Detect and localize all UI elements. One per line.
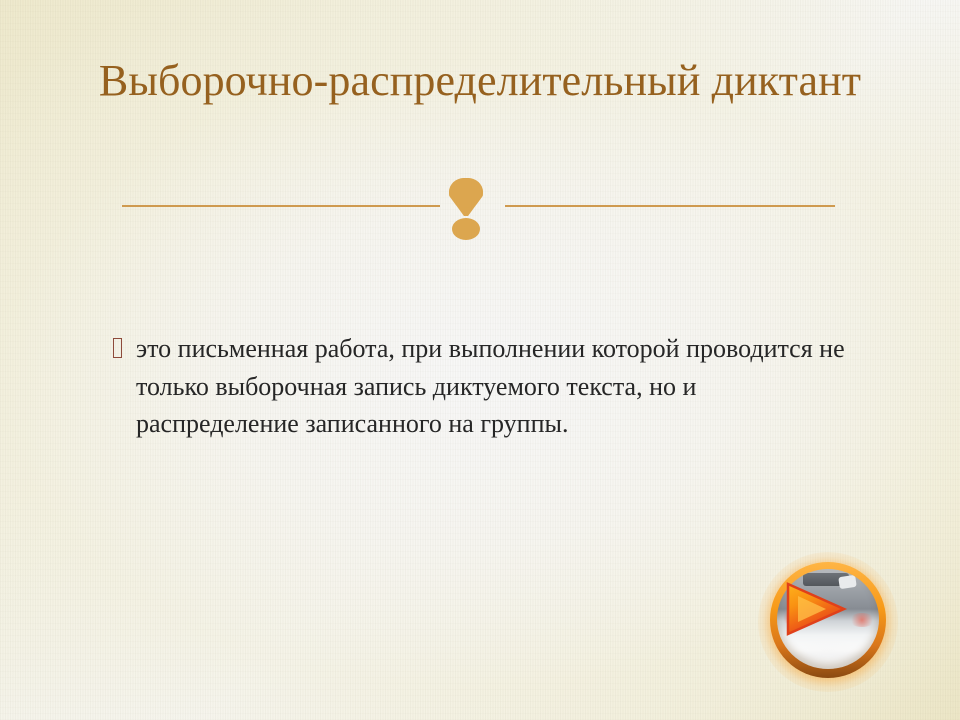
play-button-right-red-glow bbox=[849, 613, 875, 627]
divider-line-right bbox=[505, 205, 835, 207]
list-item: это письменная работа, при выполнении ко… bbox=[96, 330, 856, 443]
content-placeholder: это письменная работа, при выполнении ко… bbox=[96, 330, 856, 443]
slide-title: Выборочно-распределительный диктант bbox=[96, 52, 864, 111]
title-placeholder: Выборочно-распределительный диктант bbox=[96, 52, 864, 111]
title-divider bbox=[0, 198, 960, 248]
play-arrow-icon bbox=[785, 582, 847, 636]
missing-glyph-box-bullet-icon bbox=[113, 338, 122, 358]
exclamation-stem-shape bbox=[449, 178, 483, 216]
divider-line-left bbox=[122, 205, 440, 207]
play-button-icon[interactable] bbox=[758, 552, 898, 692]
list-item-label: это письменная работа, при выполнении ко… bbox=[136, 330, 856, 443]
exclamation-ornament-icon bbox=[443, 178, 489, 244]
slide-canvas: Выборочно-распределительный диктант это … bbox=[0, 0, 960, 720]
exclamation-dot-shape bbox=[452, 218, 480, 240]
